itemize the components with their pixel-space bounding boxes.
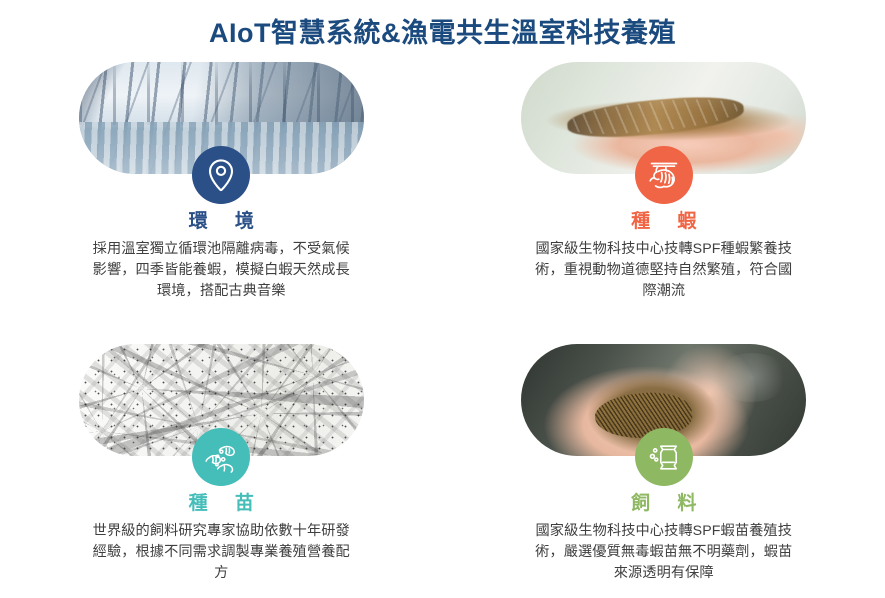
card-body-broodstock: 國家級生物科技中心技轉SPF種蝦繁養技術，重視動物道德堅持自然繁殖，符合國際潮流 xyxy=(535,239,793,302)
card-label-broodstock: 種 蝦 xyxy=(620,209,707,235)
page-title: AIoT智慧系統&漁電共生溫室科技養殖 xyxy=(0,16,885,50)
page-root: AIoT智慧系統&漁電共生溫室科技養殖 環 境 採用溫室獨立循環池隔離病毒，不受… xyxy=(0,0,885,598)
location-pin-icon xyxy=(192,146,250,204)
feed-bag-icon xyxy=(635,428,693,486)
card-body-feed: 國家級生物科技中心技轉SPF蝦苗養殖技術，嚴選優質無毒蝦苗無不明藥劑，蝦苗來源透… xyxy=(535,521,793,584)
card-label-environment: 環 境 xyxy=(178,209,265,235)
shrimp-icon xyxy=(635,146,693,204)
card-body-seedling: 世界級的飼料研究專家協助依數十年研發經驗，根據不同需求調製專業養殖營養配方 xyxy=(92,521,350,584)
card-body-environment: 採用溫室獨立循環池隔離病毒，不受氣候影響，四季皆能養蝦，模擬白蝦天然成長環境，搭… xyxy=(92,239,350,302)
shrimp-larvae-icon xyxy=(192,428,250,486)
feature-card-feed[interactable]: 飼 料 國家級生物科技中心技轉SPF蝦苗養殖技術，嚴選優質無毒蝦苗無不明藥劑，蝦… xyxy=(443,344,885,598)
feature-card-seedling[interactable]: 種 苗 世界級的飼料研究專家協助依數十年研發經驗，根據不同需求調製專業養殖營養配… xyxy=(0,344,443,598)
feature-card-environment[interactable]: 環 境 採用溫室獨立循環池隔離病毒，不受氣候影響，四季皆能養蝦，模擬白蝦天然成長… xyxy=(0,62,443,344)
card-label-seedling: 種 苗 xyxy=(178,491,265,517)
feature-card-grid: 環 境 採用溫室獨立循環池隔離病毒，不受氣候影響，四季皆能養蝦，模擬白蝦天然成長… xyxy=(0,62,885,598)
feature-card-broodstock[interactable]: 種 蝦 國家級生物科技中心技轉SPF種蝦繁養技術，重視動物道德堅持自然繁殖，符合… xyxy=(443,62,885,344)
card-label-feed: 飼 料 xyxy=(620,491,707,517)
